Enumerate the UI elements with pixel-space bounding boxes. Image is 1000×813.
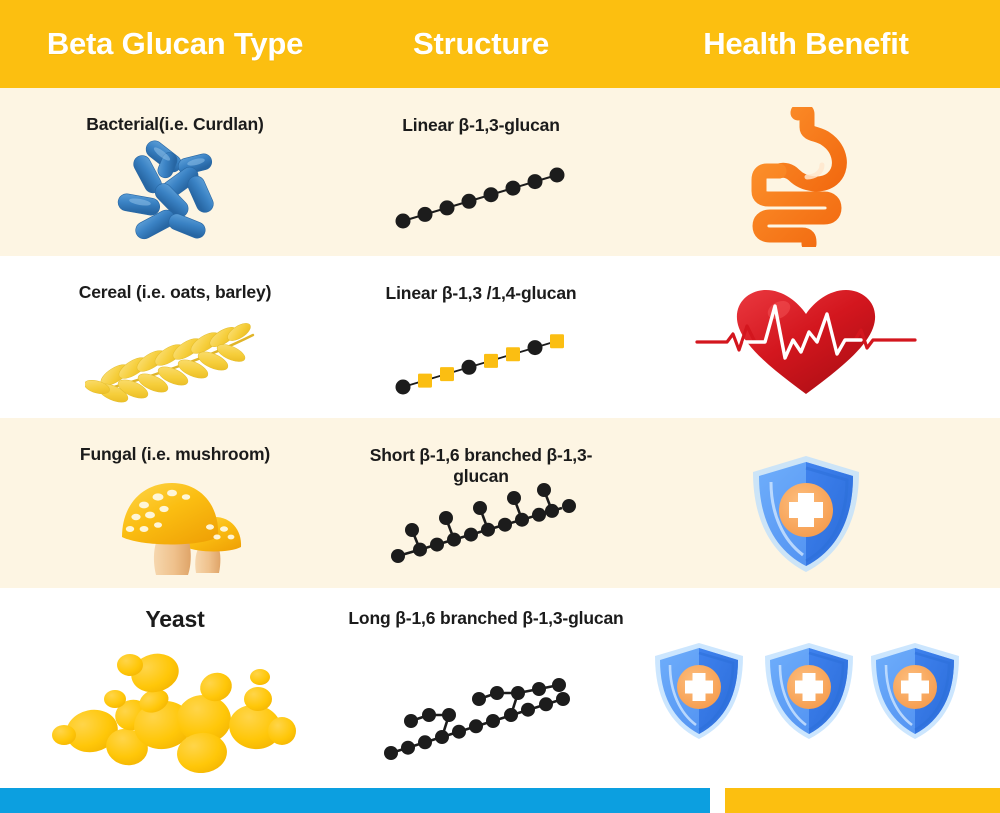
table-header: Beta Glucan Type Structure Health Benefi…: [0, 0, 1000, 88]
stomach-intestine-icon: [746, 107, 866, 247]
oat-grain-stalk-icon: [85, 315, 265, 405]
cell-structure: Short β-1,6 branched β-1,3-glucan: [350, 418, 612, 588]
infographic-page: Beta Glucan Type Structure Health Benefi…: [0, 0, 1000, 813]
table-row: Fungal (i.e. mushroom): [0, 418, 1000, 588]
cell-health-benefit: [612, 418, 1000, 588]
row-structure-label: Long β-1,6 branched β-1,3-glucan: [336, 608, 636, 629]
row-type-label: Bacterial(i.e. Curdlan): [0, 114, 350, 135]
yeast-cells-icon: [50, 643, 300, 773]
header-health-benefit: Health Benefit: [612, 0, 1000, 88]
linear-mixed-chain-diagram: [391, 329, 571, 399]
short-branched-chain-diagram: [386, 478, 576, 568]
table-row: Cereal (i.e. oats, barley): [0, 256, 1000, 418]
heart-ecg-icon: [691, 282, 921, 402]
footer-bar-right: [725, 788, 1000, 813]
row-type-label: Yeast: [0, 606, 350, 633]
cell-beta-glucan-type: Yeast: [0, 588, 350, 788]
header-structure: Structure: [350, 0, 612, 88]
table-row: Bacterial(i.e. Curdlan): [0, 88, 1000, 256]
cell-beta-glucan-type: Cereal (i.e. oats, barley): [0, 256, 350, 418]
mushroom-icon: [100, 467, 250, 579]
cell-structure: Linear β-1,3 /1,4-glucan: [350, 256, 612, 418]
shield-plus-icon: [741, 452, 871, 578]
cell-structure: Long β-1,6 branched β-1,3-glucan: [350, 588, 612, 788]
linear-chain-diagram: [391, 163, 571, 233]
footer-bar-left: [0, 788, 710, 813]
row-structure-label: Linear β-1,3 /1,4-glucan: [350, 283, 612, 304]
header-beta-glucan-type: Beta Glucan Type: [0, 0, 350, 88]
cell-health-benefit: [612, 256, 1000, 418]
row-type-label: Cereal (i.e. oats, barley): [0, 282, 350, 303]
row-structure-label: Linear β-1,3-glucan: [350, 115, 612, 136]
cell-health-benefit: [612, 588, 1000, 788]
cell-structure: Linear β-1,3-glucan: [350, 88, 612, 256]
cell-beta-glucan-type: Fungal (i.e. mushroom): [0, 418, 350, 588]
triple-shield-plus-icon: [641, 633, 971, 753]
cell-health-benefit: [612, 88, 1000, 256]
bacteria-icon: [110, 140, 240, 250]
cell-beta-glucan-type: Bacterial(i.e. Curdlan): [0, 88, 350, 256]
long-branched-chain-diagram: [381, 659, 581, 769]
table-row: Yeast: [0, 588, 1000, 788]
